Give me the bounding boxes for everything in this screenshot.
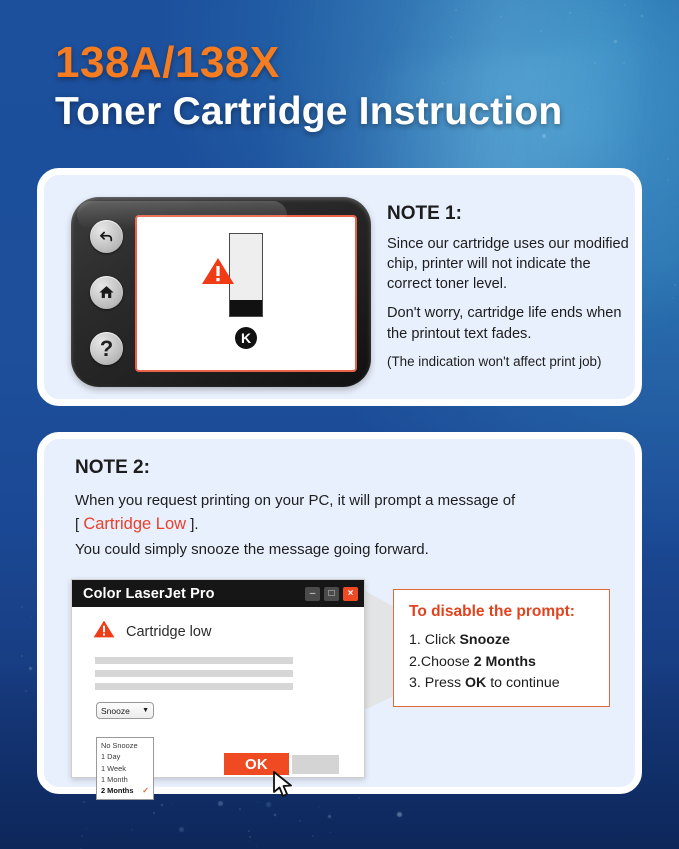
bracket-open: [ bbox=[75, 516, 79, 533]
instruction-step-keyword: OK bbox=[465, 675, 486, 691]
note1-card: ? K NOTE 1: Since our car bbox=[37, 168, 642, 406]
instruction-step-keyword: Snooze bbox=[459, 632, 509, 648]
printer-screen: K bbox=[135, 215, 357, 372]
snooze-option-label: 1 Month bbox=[101, 774, 128, 785]
mouse-cursor-icon bbox=[271, 770, 297, 805]
note1-paragraph-2: Don't worry, cartridge life ends when th… bbox=[387, 303, 635, 343]
note1-heading: NOTE 1: bbox=[387, 203, 635, 225]
toner-level-indicator: K bbox=[137, 233, 355, 349]
bracket-close: ]. bbox=[190, 516, 198, 533]
close-icon[interactable]: × bbox=[343, 587, 358, 601]
instruction-step-suffix: to continue bbox=[486, 675, 559, 691]
page-title-model: 138A/138X bbox=[55, 40, 655, 86]
snooze-option-label: No Snooze bbox=[101, 740, 138, 751]
note2-card: NOTE 2: When you request printing on you… bbox=[37, 432, 642, 794]
snooze-select-value: Snooze bbox=[101, 706, 130, 716]
placeholder-line-3 bbox=[95, 683, 293, 690]
help-question-icon[interactable]: ? bbox=[90, 332, 123, 365]
note1-footnote: (The indication won't affect print job) bbox=[387, 353, 635, 371]
note2-heading: NOTE 2: bbox=[75, 457, 620, 479]
toner-bar bbox=[229, 233, 263, 317]
page-title-subtitle: Toner Cartridge Instruction bbox=[55, 90, 655, 134]
chevron-down-icon: ▼ bbox=[142, 707, 149, 714]
instruction-step-prefix: 1. Click bbox=[409, 632, 459, 648]
back-arrow-icon[interactable] bbox=[90, 220, 123, 253]
note1-paragraph-1: Since our cartridge uses our modified ch… bbox=[387, 234, 635, 294]
window-buttons: – □ × bbox=[305, 587, 358, 601]
cartridge-low-highlight: Cartridge Low bbox=[83, 515, 186, 533]
toner-color-label: K bbox=[235, 327, 257, 349]
note2-line-1: When you request printing on your PC, it… bbox=[75, 489, 620, 512]
warning-triangle-icon bbox=[201, 256, 235, 291]
home-icon[interactable] bbox=[90, 276, 123, 309]
instruction-step: 3. Press OK to continue bbox=[409, 673, 594, 695]
instruction-step-prefix: 3. Press bbox=[409, 675, 465, 691]
instruction-step-prefix: 2.Choose bbox=[409, 654, 474, 670]
dialog-alert-row: Cartridge low bbox=[93, 619, 211, 644]
note1-text-block: NOTE 1: Since our cartridge uses our mod… bbox=[387, 203, 635, 371]
note2-line-3: You could simply snooze the message goin… bbox=[75, 538, 620, 561]
secondary-button[interactable] bbox=[292, 755, 339, 774]
dialog-titlebar: Color LaserJet Pro – □ × bbox=[72, 580, 364, 607]
maximize-icon[interactable]: □ bbox=[324, 587, 339, 601]
question-mark-glyph: ? bbox=[100, 338, 113, 360]
snooze-option-label: 1 Day bbox=[101, 751, 120, 762]
instruction-step: 1. Click Snooze bbox=[409, 630, 594, 652]
printer-control-panel: ? K bbox=[71, 197, 371, 387]
dialog-alert-text: Cartridge low bbox=[126, 624, 211, 640]
snooze-option[interactable]: 1 Week bbox=[97, 763, 153, 774]
snooze-option-label: 2 Months bbox=[101, 785, 133, 796]
instruction-step-list: 1. Click Snooze2.Choose 2 Months3. Press… bbox=[409, 630, 594, 695]
placeholder-line-2 bbox=[95, 670, 293, 677]
dialog-title: Color LaserJet Pro bbox=[83, 586, 215, 602]
toner-fill bbox=[230, 300, 262, 316]
dialog-body: Cartridge low Snooze ▼ No Snooze1 Day1 W… bbox=[72, 607, 364, 777]
minimize-icon[interactable]: – bbox=[305, 587, 320, 601]
instruction-step: 2.Choose 2 Months bbox=[409, 652, 594, 674]
instruction-heading: To disable the prompt: bbox=[409, 603, 594, 621]
note2-line-2: [ Cartridge Low ]. bbox=[75, 512, 620, 538]
snooze-option-list[interactable]: No Snooze1 Day1 Week1 Month2 Months✓ bbox=[96, 737, 154, 800]
placeholder-line-1 bbox=[95, 657, 293, 664]
instruction-callout: To disable the prompt: 1. Click Snooze2.… bbox=[393, 589, 610, 707]
page-header: 138A/138X Toner Cartridge Instruction bbox=[55, 40, 655, 134]
instruction-step-keyword: 2 Months bbox=[474, 654, 536, 670]
snooze-option[interactable]: 1 Month bbox=[97, 774, 153, 785]
snooze-option[interactable]: 2 Months✓ bbox=[97, 785, 153, 797]
snooze-option[interactable]: 1 Day bbox=[97, 751, 153, 762]
snooze-option[interactable]: No Snooze bbox=[97, 740, 153, 751]
check-icon: ✓ bbox=[142, 785, 149, 797]
snooze-option-label: 1 Week bbox=[101, 763, 126, 774]
alert-triangle-icon bbox=[93, 619, 115, 644]
printer-dialog-window: Color LaserJet Pro – □ × Cartridge low bbox=[71, 579, 365, 778]
note2-text-block: NOTE 2: When you request printing on you… bbox=[75, 457, 620, 561]
snooze-select[interactable]: Snooze ▼ bbox=[96, 702, 154, 719]
